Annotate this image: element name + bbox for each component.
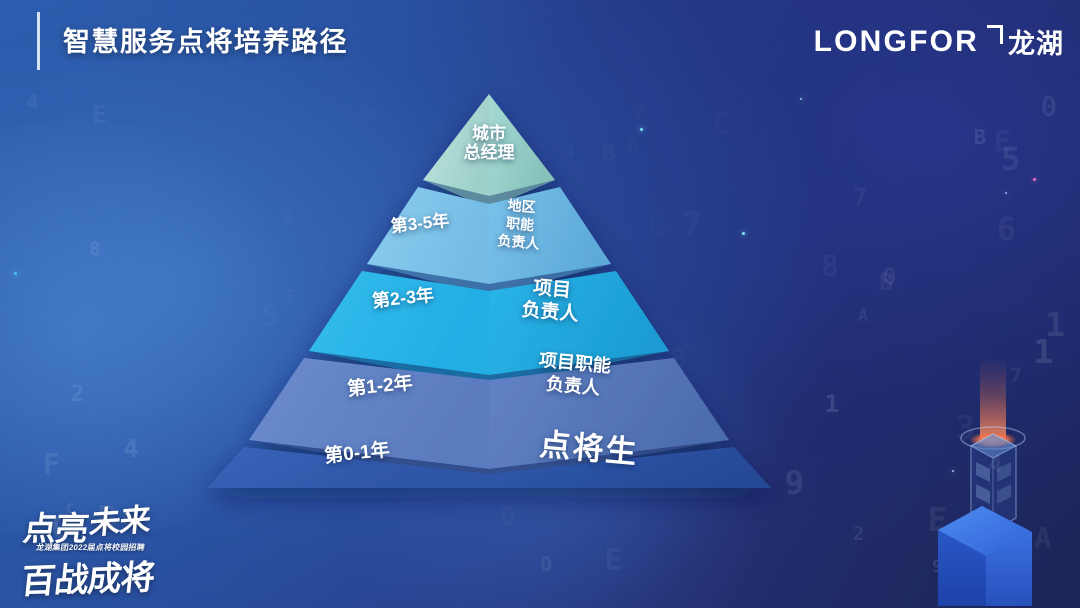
background-hex-digit: 4	[989, 453, 1003, 476]
background-hex-digit: B	[879, 271, 893, 295]
glow-beam	[980, 358, 1006, 438]
background-hex-digit: A	[1034, 525, 1051, 553]
background-hex-digit: 1	[825, 392, 840, 416]
pyramid-shape	[247, 88, 767, 493]
background-hex-digit: 2	[71, 384, 84, 406]
background-hex-digit: 0	[1040, 93, 1057, 121]
campaign-line2: 百战成将	[19, 550, 157, 604]
background-hex-digit: E	[928, 503, 948, 536]
brand-logo-wordmark: LONGFOR	[814, 25, 979, 59]
background-sparkle	[14, 272, 17, 275]
background-sparkle	[1033, 178, 1036, 181]
campaign-line1-b: 未来	[88, 494, 152, 543]
page-title: 智慧服务点将培养路径	[63, 20, 348, 59]
background-hex-digit: 1	[1033, 336, 1053, 369]
background-hex-digit: 7	[853, 185, 868, 209]
campaign-logo: 点亮 未来 龙湖集团2022届点将校园招聘 百战成将	[18, 498, 208, 594]
background-hex-digit: 6	[997, 213, 1016, 245]
background-hex-digit: E	[92, 102, 107, 127]
background-hex-digit: 5	[1001, 143, 1020, 175]
background-hex-digit: 8	[89, 241, 100, 260]
background-sparkle	[952, 470, 954, 472]
brand-logo-chinese: 龙湖	[1008, 22, 1064, 61]
background-sparkle	[1005, 192, 1007, 194]
background-hex-digit: 4	[123, 437, 138, 462]
isometric-decor	[920, 358, 1080, 608]
slide-header: 智慧服务点将培养路径 LONGFOR 龙湖	[0, 0, 1080, 84]
background-hex-digit: 0	[499, 504, 515, 531]
background-hex-digit: 2	[853, 526, 864, 544]
background-hex-digit: B	[974, 127, 986, 147]
corner-bracket-icon	[982, 27, 1003, 57]
background-hex-digit: 3	[955, 411, 975, 444]
decor-shapes	[920, 358, 1080, 608]
background-hex-digit: 1	[1045, 308, 1065, 341]
background-hex-digit: 7	[1010, 366, 1022, 386]
background-hex-digit: E	[994, 128, 1011, 156]
isometric-cube	[938, 506, 1032, 606]
background-hex-digit: 0	[882, 266, 896, 290]
background-hex-digit: D	[541, 555, 553, 574]
background-sparkle	[800, 98, 802, 100]
brand-logo: LONGFOR 龙湖	[814, 22, 1064, 61]
career-path-pyramid: 城市 总经理 第3-5年 地区 职能 负责人 第2-3年 项目 负责人 第1-2…	[247, 88, 767, 493]
background-hex-digit: F	[43, 451, 60, 479]
background-hex-digit: 9	[785, 467, 805, 499]
header-accent-bar	[37, 12, 40, 70]
background-hex-digit: A	[858, 308, 868, 325]
isometric-tower	[971, 434, 1016, 531]
slide-canvas: 47BE07952CF38A61DBE27094C5BF38276BEC0149…	[0, 0, 1080, 608]
background-hex-digit: E	[605, 546, 623, 576]
background-hex-digit: 4	[26, 92, 38, 112]
background-hex-digit: 8	[821, 252, 839, 281]
background-hex-digit: 9	[932, 559, 942, 576]
